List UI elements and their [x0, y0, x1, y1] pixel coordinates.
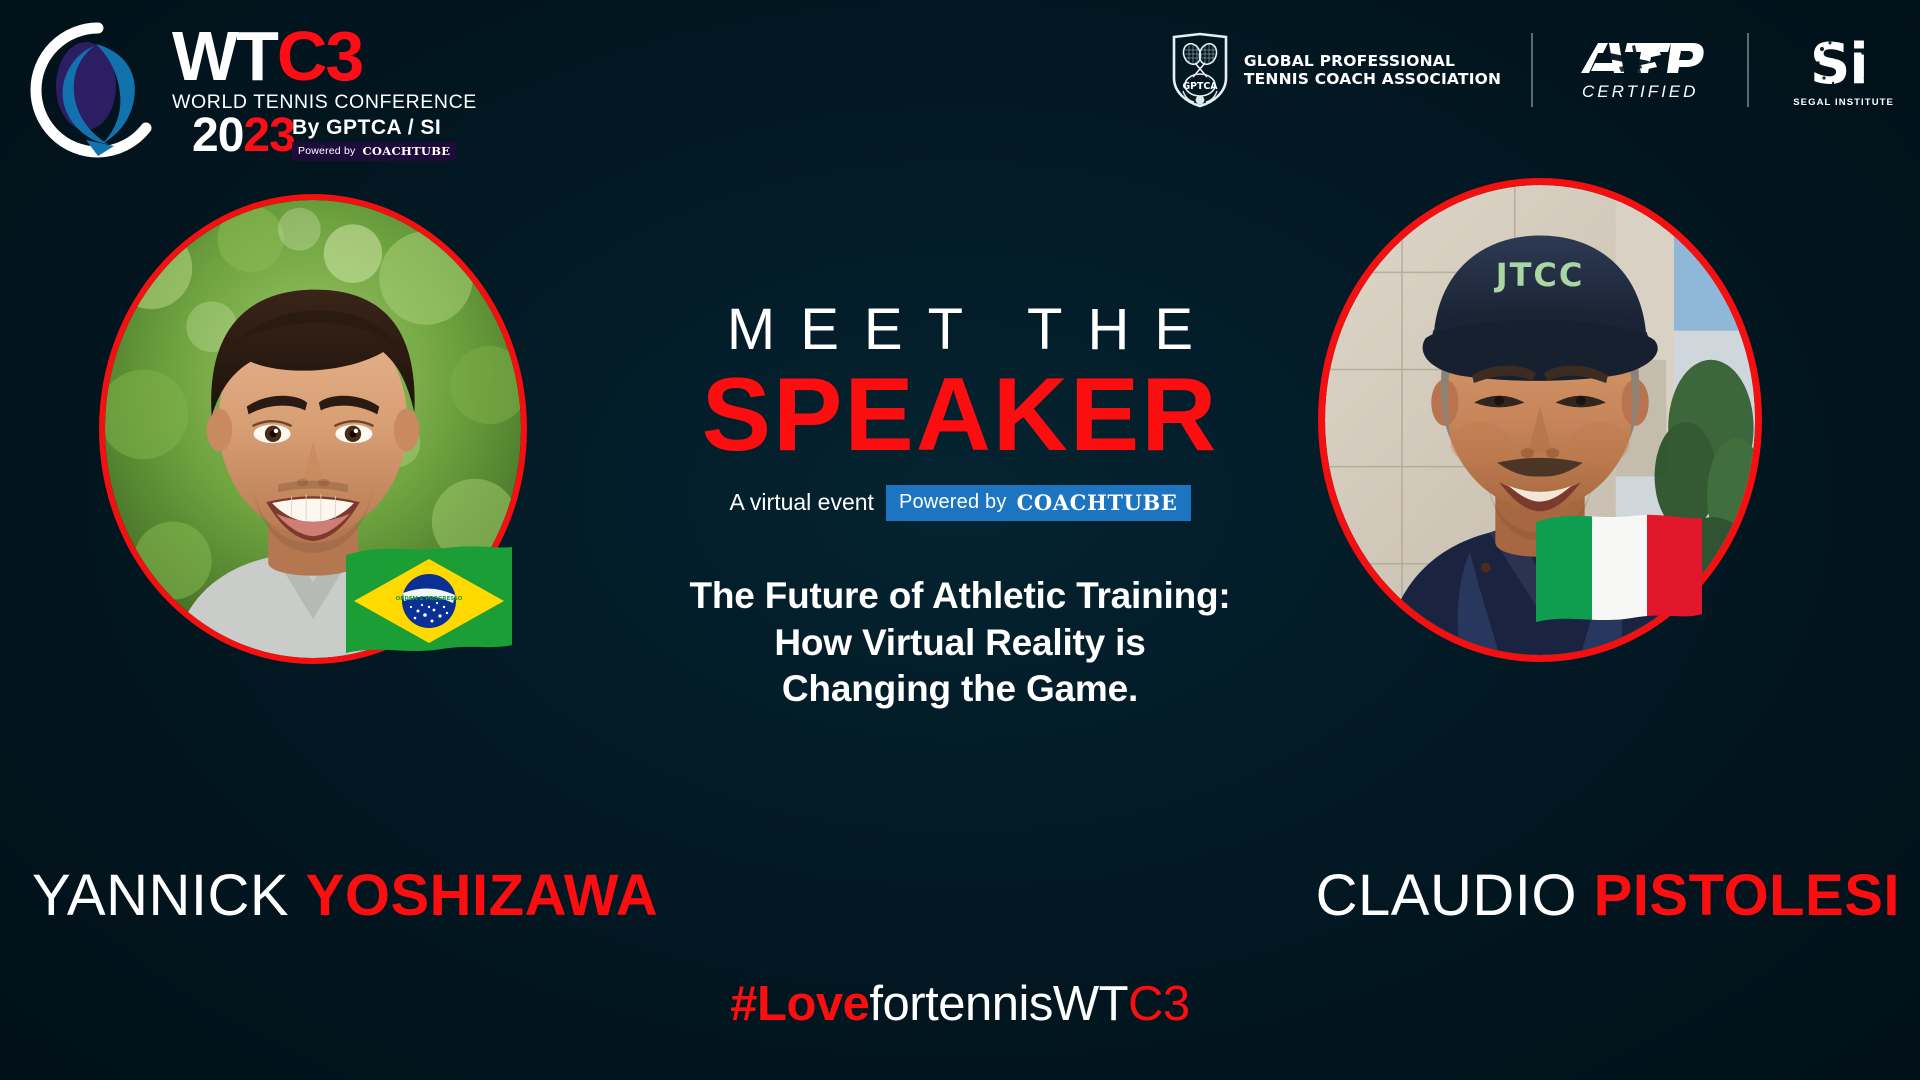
- wtc3-event-logo: WTC3 WORLD TENNIS CONFERENCE 2023 By GPT…: [28, 18, 408, 178]
- event-hashtag: #LovefortennisWTC3: [0, 976, 1920, 1032]
- wtc3-wordmark-wt: WT: [172, 17, 277, 95]
- wtc3-coachtube-badge: Powered by COACHTUBE: [292, 142, 456, 161]
- speaker-card-left: ORDEM E PROGRESSO: [99, 194, 527, 664]
- coachtube-powered-badge: Powered by COACHTUBE: [886, 485, 1191, 521]
- gptca-badge-text: GPTCA: [1182, 81, 1218, 92]
- brazil-flag-motto: ORDEM E PROGRESSO: [396, 596, 463, 602]
- wtc3-logo-mark-icon: [28, 20, 168, 160]
- italy-flag-icon: [1536, 514, 1702, 626]
- gptca-name-line2: TENNIS COACH ASSOCIATION: [1244, 70, 1501, 88]
- wtc3-wordmark-c3: C3: [277, 17, 362, 95]
- wtc3-year: 2023: [192, 112, 295, 160]
- cap-text-jtcc: JTCC: [1494, 256, 1585, 294]
- coachtube-powered-by-label: Powered by: [899, 491, 1007, 514]
- talk-title: The Future of Athletic Training: How Vir…: [560, 573, 1360, 713]
- talk-title-line2: How Virtual Reality is: [560, 620, 1360, 667]
- speaker-right-last-name: PISTOLESI: [1594, 863, 1900, 928]
- si-caption: SEGAL INSTITUTE: [1793, 97, 1894, 108]
- virtual-event-row: A virtual event Powered by COACHTUBE: [560, 485, 1360, 521]
- headline-meet-the: MEET THE: [560, 300, 1360, 361]
- atp-certified-label: CERTIFIED: [1582, 82, 1698, 102]
- center-content: MEET THE SPEAKER A virtual event Powered…: [560, 300, 1360, 713]
- talk-title-line3: Changing the Game.: [560, 666, 1360, 713]
- brazil-flag-icon: ORDEM E PROGRESSO: [346, 545, 512, 657]
- speaker-name-left: YANNICK YOSHIZAWA: [32, 862, 658, 929]
- atp-logo-icon: [1575, 39, 1705, 81]
- segal-institute-logo: Si SEGAL INSTITUTE: [1749, 33, 1894, 108]
- wtc3-wordmark: WTC3: [172, 24, 477, 90]
- gptca-shield-icon: GPTCA: [1170, 32, 1230, 108]
- atp-certified-logo: CERTIFIED: [1533, 39, 1747, 102]
- coachtube-wordmark: COACHTUBE: [1017, 490, 1178, 515]
- wtc3-coachtube-wordmark: COACHTUBE: [362, 144, 450, 158]
- wtc3-year-accent: 23: [243, 109, 294, 162]
- speaker-name-right: CLAUDIO PISTOLESI: [1316, 862, 1900, 929]
- wtc3-year-prefix: 20: [192, 109, 243, 162]
- speaker-right-first-name: CLAUDIO: [1316, 863, 1577, 928]
- speaker-card-right: JTCC: [1318, 178, 1762, 662]
- wtc3-powered-by-label: Powered by: [298, 145, 355, 157]
- virtual-event-label: A virtual event: [729, 489, 873, 516]
- hashtag-c3: C3: [1128, 977, 1190, 1031]
- hashtag-love: #Love: [730, 977, 869, 1031]
- hashtag-fortennis: fortennisWT: [869, 977, 1128, 1031]
- partner-logo-bar: GPTCA GLOBAL PROFESSIONAL TENNIS COACH A…: [1170, 24, 1894, 116]
- headline-speaker: SPEAKER: [560, 363, 1360, 467]
- si-logo-icon: Si: [1808, 33, 1880, 95]
- gptca-name-line1: GLOBAL PROFESSIONAL: [1244, 52, 1501, 70]
- wtc3-by-line: By GPTCA / SI: [292, 116, 441, 140]
- talk-title-line1: The Future of Athletic Training:: [560, 573, 1360, 620]
- gptca-name-block: GLOBAL PROFESSIONAL TENNIS COACH ASSOCIA…: [1244, 52, 1501, 89]
- speaker-left-first-name: YANNICK: [32, 863, 289, 928]
- speaker-left-last-name: YOSHIZAWA: [306, 863, 659, 928]
- gptca-logo: GPTCA GLOBAL PROFESSIONAL TENNIS COACH A…: [1170, 32, 1531, 108]
